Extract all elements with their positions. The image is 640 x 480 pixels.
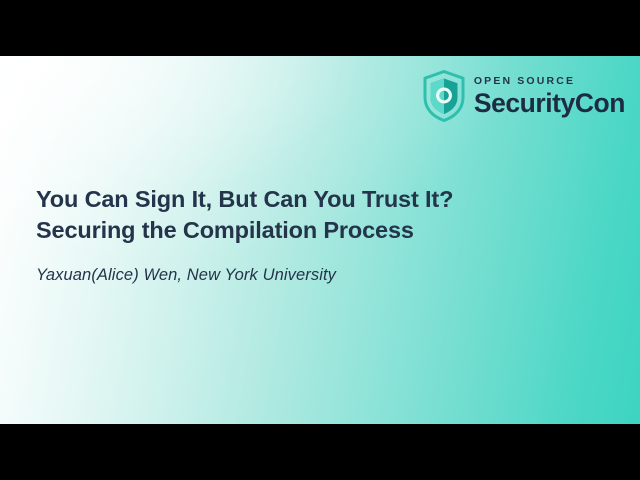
video-frame: OPEN SOURCE SecurityCon You Can Sign It,… <box>0 0 640 480</box>
shield-icon <box>423 70 465 122</box>
letterbox-bar-top <box>0 0 640 56</box>
talk-title-line-1: You Can Sign It, But Can You Trust It? <box>36 184 612 215</box>
logo-kicker: OPEN SOURCE <box>474 76 625 87</box>
talk-presenter: Yaxuan(Alice) Wen, New York University <box>36 265 612 286</box>
talk-info-block: You Can Sign It, But Can You Trust It? S… <box>36 184 612 286</box>
logo-wordmark: SecurityCon <box>474 90 625 117</box>
title-slide: OPEN SOURCE SecurityCon You Can Sign It,… <box>0 56 640 424</box>
talk-title-line-2: Securing the Compilation Process <box>36 215 612 246</box>
securitycon-logo: OPEN SOURCE SecurityCon <box>423 70 625 122</box>
logo-wordmark-group: OPEN SOURCE SecurityCon <box>474 76 625 116</box>
letterbox-bar-bottom <box>0 424 640 480</box>
